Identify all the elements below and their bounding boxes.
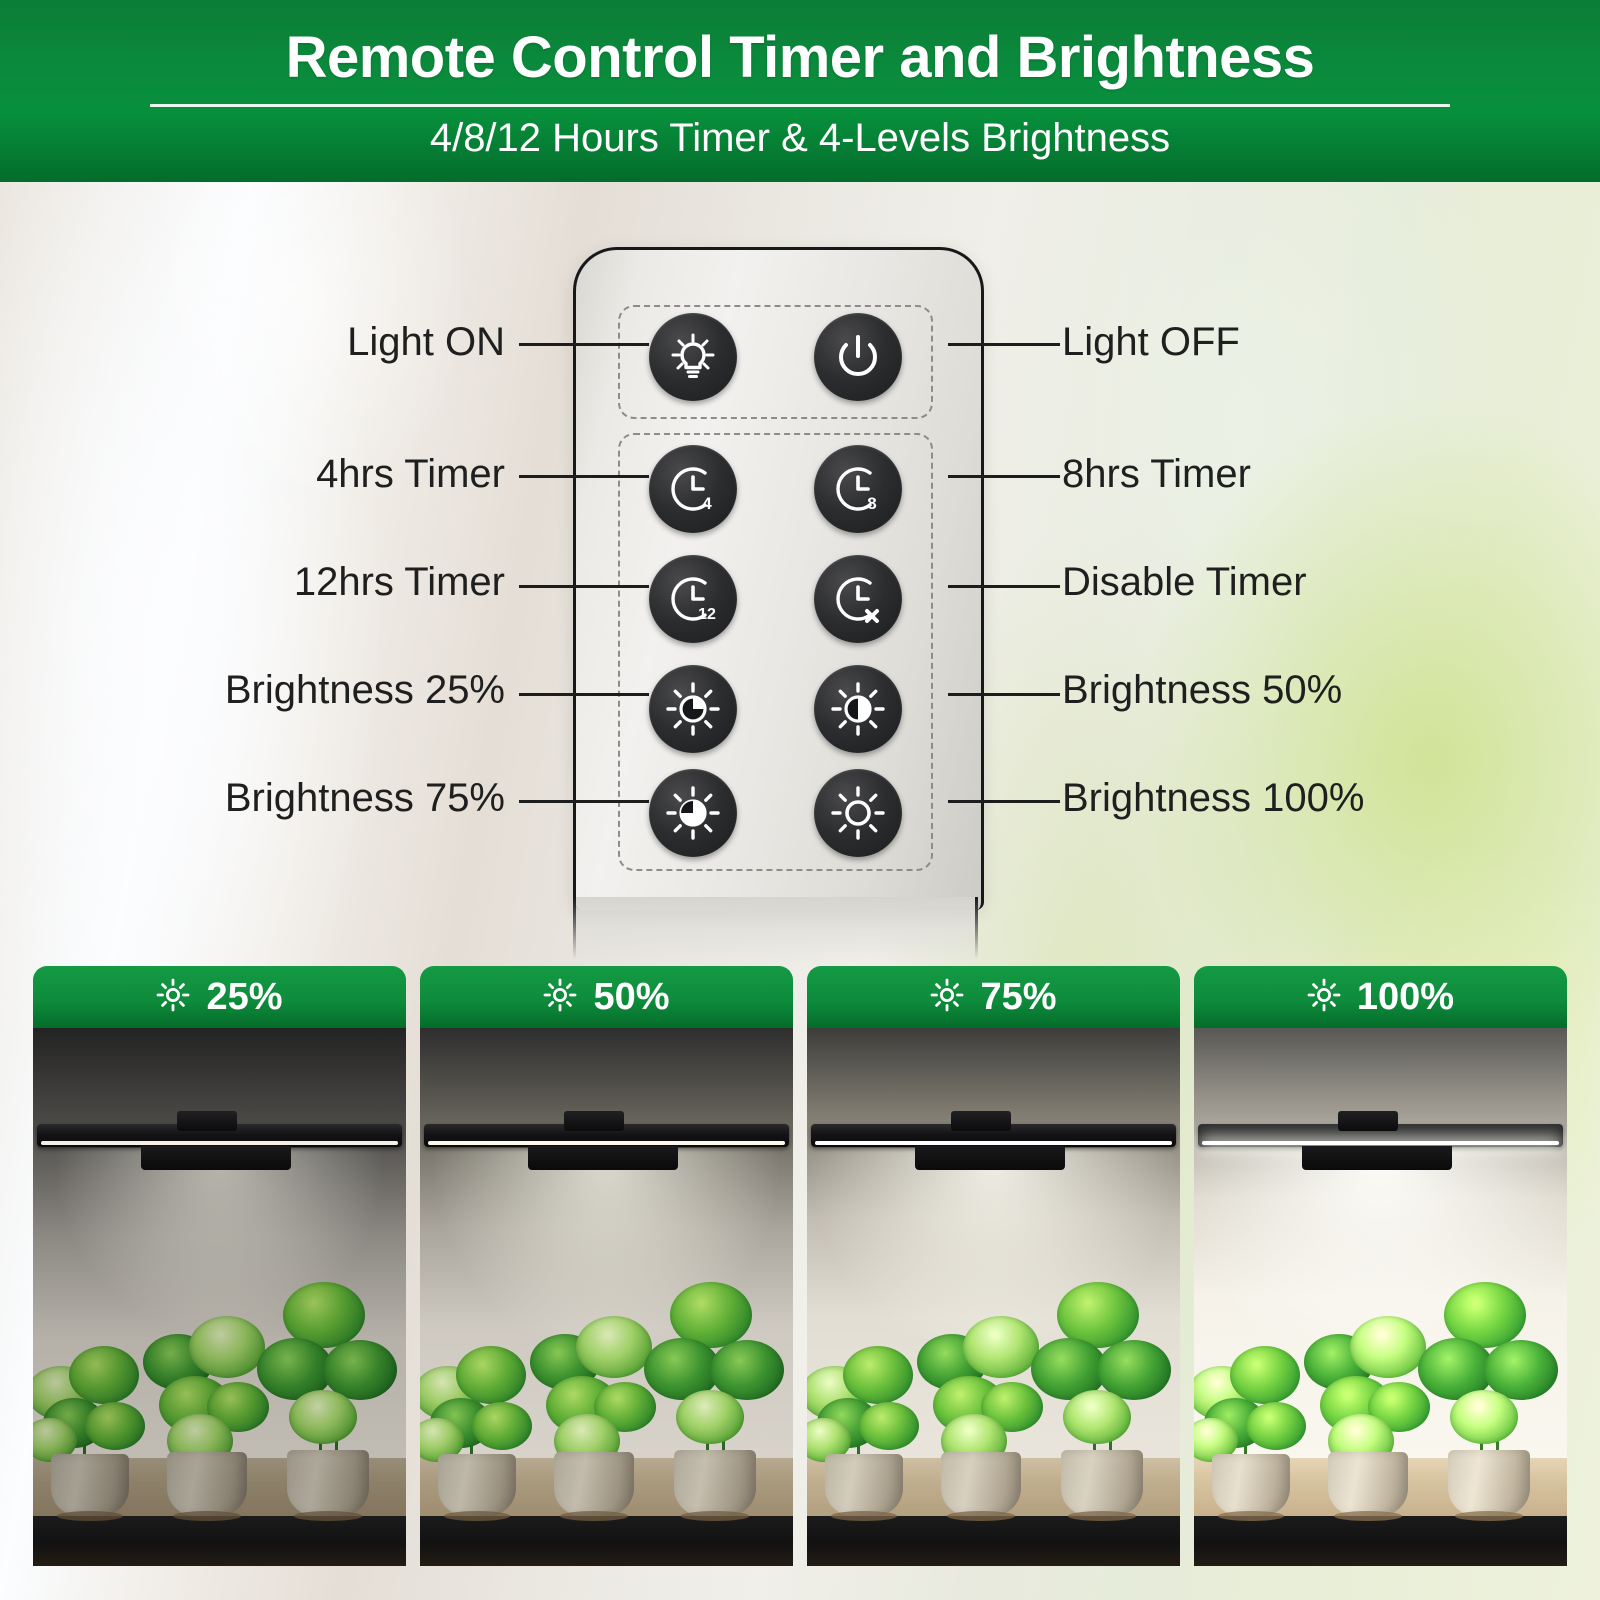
leader-timer-disable (948, 585, 1060, 588)
remote-lower-body (573, 897, 978, 967)
timer-8-button[interactable]: 8 (814, 445, 902, 533)
page-subtitle: 4/8/12 Hours Timer & 4-Levels Brightness (0, 116, 1600, 161)
panel-25-tab: 25% (33, 966, 406, 1028)
panel-25-percent: 25% (206, 976, 282, 1019)
sun-quarter-icon (664, 680, 722, 738)
lamp-base (141, 1146, 291, 1170)
callout-brightness-50: Brightness 50% (1062, 670, 1342, 710)
infographic-canvas: Remote Control Timer and Brightness 4/8/… (0, 0, 1600, 1600)
panel-50-tab: 50% (420, 966, 793, 1028)
light-strip (428, 1141, 785, 1145)
callout-timer-12: 12hrs Timer (294, 562, 505, 602)
brightness-25-button[interactable] (649, 665, 737, 753)
leader-brightness-50 (948, 693, 1060, 696)
sun-icon (930, 978, 964, 1017)
leader-timer-4 (519, 475, 649, 478)
shelf-edge (807, 1516, 1180, 1566)
bulb-icon (665, 329, 721, 385)
callout-timer-8: 8hrs Timer (1062, 454, 1251, 494)
panel-50-percent: 50% (593, 976, 669, 1019)
lamp-mount (1338, 1111, 1398, 1131)
timer-4-button[interactable]: 4 (649, 445, 737, 533)
lamp-base (915, 1146, 1065, 1170)
leader-light-on (519, 343, 649, 346)
callout-timer-4: 4hrs Timer (316, 454, 505, 494)
panel-75-percent: 75% (980, 976, 1056, 1019)
plant (640, 1266, 790, 1516)
shelf-edge (1194, 1516, 1567, 1566)
shelf-edge (33, 1516, 406, 1566)
callout-light-off: Light OFF (1062, 322, 1240, 362)
panel-75: 75% (807, 966, 1180, 1566)
panel-100-percent: 100% (1357, 976, 1454, 1019)
clock-x-icon (830, 571, 886, 627)
sun-three-quarter-icon (664, 784, 722, 842)
panel-25-photo (33, 1028, 406, 1566)
panel-100-photo (1194, 1028, 1567, 1566)
shelf-edge (420, 1516, 793, 1566)
light-strip (815, 1141, 1172, 1145)
svg-text:4: 4 (702, 494, 712, 513)
leader-timer-12 (519, 585, 649, 588)
remote-control: 4 8 12 (573, 247, 978, 967)
lamp-base (528, 1146, 678, 1170)
header-banner: Remote Control Timer and Brightness 4/8/… (0, 0, 1600, 182)
leader-timer-8 (948, 475, 1060, 478)
panel-100: 100% (1194, 966, 1567, 1566)
callout-brightness-75: Brightness 75% (225, 778, 505, 818)
clock-12-icon: 12 (665, 571, 721, 627)
light-strip (41, 1141, 398, 1145)
sun-icon (156, 978, 190, 1017)
lamp-mount (951, 1111, 1011, 1131)
panel-50: 50% (420, 966, 793, 1566)
clock-4-icon: 4 (665, 461, 721, 517)
lamp-mount (564, 1111, 624, 1131)
panel-100-tab: 100% (1194, 966, 1567, 1028)
leader-light-off (948, 343, 1060, 346)
svg-text:8: 8 (867, 494, 876, 513)
timer-12-button[interactable]: 12 (649, 555, 737, 643)
light-off-button[interactable] (814, 313, 902, 401)
leader-brightness-100 (948, 800, 1060, 803)
plant (253, 1266, 403, 1516)
callout-timer-disable: Disable Timer (1062, 562, 1307, 602)
clock-8-icon: 8 (830, 461, 886, 517)
panel-25: 25% (33, 966, 406, 1566)
panel-75-tab: 75% (807, 966, 1180, 1028)
power-icon (832, 331, 884, 383)
page-title: Remote Control Timer and Brightness (0, 24, 1600, 91)
svg-text:12: 12 (698, 606, 716, 623)
panel-75-photo (807, 1028, 1180, 1566)
brightness-50-button[interactable] (814, 665, 902, 753)
panel-50-photo (420, 1028, 793, 1566)
timer-disable-button[interactable] (814, 555, 902, 643)
lamp-mount (177, 1111, 237, 1131)
leader-brightness-75 (519, 800, 649, 803)
brightness-75-button[interactable] (649, 769, 737, 857)
plant (1414, 1266, 1564, 1516)
light-strip (1202, 1141, 1559, 1145)
callout-brightness-25: Brightness 25% (225, 670, 505, 710)
callout-light-on: Light ON (347, 322, 505, 362)
sun-full-icon (829, 784, 887, 842)
header-divider (150, 104, 1450, 107)
leader-brightness-25 (519, 693, 649, 696)
lamp-base (1302, 1146, 1452, 1170)
sun-half-icon (829, 680, 887, 738)
plant (1027, 1266, 1177, 1516)
brightness-comparison-strip: 25% (33, 966, 1567, 1566)
sun-icon (1307, 978, 1341, 1017)
callout-brightness-100: Brightness 100% (1062, 778, 1364, 818)
sun-icon (543, 978, 577, 1017)
light-on-button[interactable] (649, 313, 737, 401)
brightness-100-button[interactable] (814, 769, 902, 857)
